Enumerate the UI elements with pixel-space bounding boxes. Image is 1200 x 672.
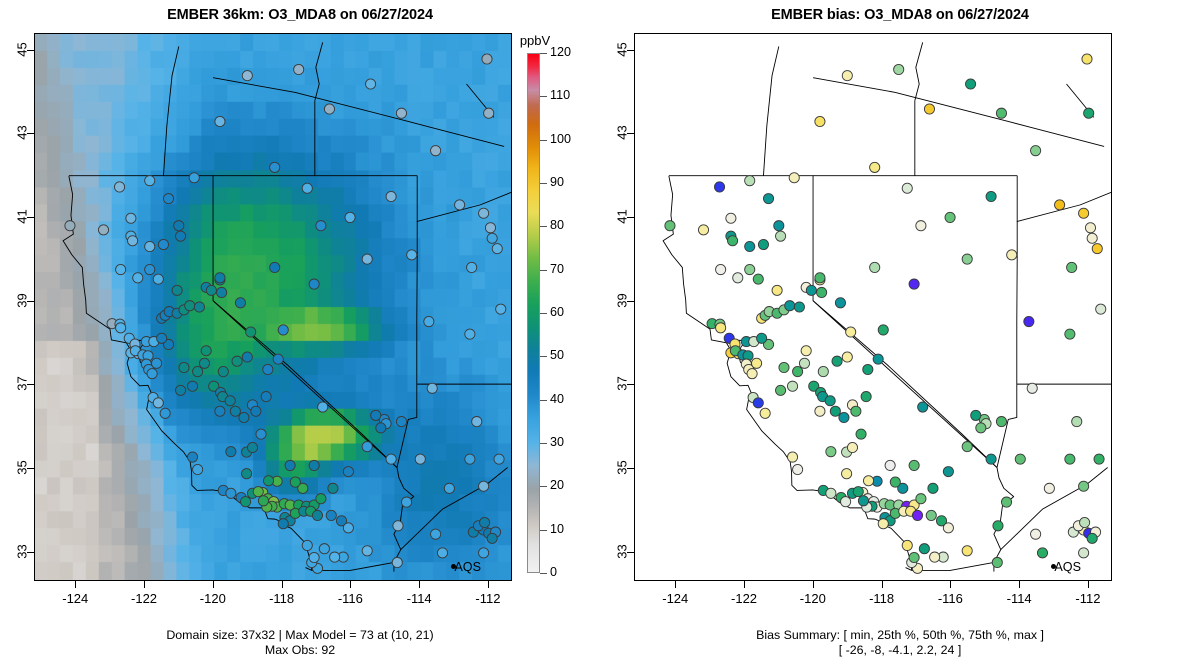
colorbar-tick-label: 40 (550, 392, 564, 406)
page-title: EMBER 36km: O3_MDA8 on 06/27/2024 (0, 7, 600, 23)
model-panel: EMBER 36km: O3_MDA8 on 06/27/2024 AQS -1… (0, 0, 600, 672)
aqs-legend-label-bias: AQS (1054, 560, 1081, 574)
colorbar-tick (540, 573, 547, 574)
y-axis-tick-label: 37 (615, 364, 630, 404)
caption-line-1: Domain size: 37x32 | Max Model = 73 at (… (0, 628, 600, 643)
model-caption: Domain size: 37x32 | Max Model = 73 at (… (0, 628, 600, 658)
x-axis-tick (75, 581, 76, 588)
caption-line-2-bias: [ -26, -8, -4.1, 2.2, 24 ] (600, 643, 1200, 658)
y-axis-tick-label: 41 (15, 197, 30, 237)
colorbar-tick-label: 100 (550, 132, 571, 146)
caption-line-2: Max Obs: 92 (0, 643, 600, 658)
y-axis-tick-label: 33 (15, 531, 30, 571)
x-axis-tick-label: -124 (45, 591, 105, 606)
x-axis-tick (419, 581, 420, 588)
y-axis-tick-label: 43 (15, 113, 30, 153)
colorbar-tick (540, 226, 547, 227)
map-boundaries-layer-bias (635, 34, 1111, 580)
aqs-bias-markers (635, 34, 1111, 580)
aqs-legend-label: AQS (454, 560, 481, 574)
bias-map-plot[interactable]: AQS (634, 33, 1112, 581)
y-axis-tick-label: 41 (615, 197, 630, 237)
page-title-bias: EMBER bias: O3_MDA8 on 06/27/2024 (600, 7, 1200, 23)
x-axis-tick (350, 581, 351, 588)
aqs-legend-dot-icon-bias (1051, 564, 1056, 569)
colorbar-tick (540, 486, 547, 487)
colorbar-tick (540, 530, 547, 531)
colorbar-tick (540, 443, 547, 444)
y-axis-tick-label: 35 (615, 448, 630, 488)
colorbar-tick-label: 70 (550, 262, 564, 276)
x-axis-tick (950, 581, 951, 588)
colorbar-tick-label: 90 (550, 175, 564, 189)
colorbar-tick-label: 30 (550, 435, 564, 449)
colorbar-tick-label: 60 (550, 305, 564, 319)
x-axis-tick (144, 581, 145, 588)
x-axis-tick (488, 581, 489, 588)
x-axis-tick-label: -114 (989, 591, 1049, 606)
model-raster-layer (35, 34, 511, 580)
x-axis-tick (813, 581, 814, 588)
x-axis-tick-label: -120 (783, 591, 843, 606)
x-axis-tick-label: -120 (183, 591, 243, 606)
y-axis-tick-label: 45 (15, 29, 30, 69)
x-axis-tick (882, 581, 883, 588)
x-axis-tick-label: -118 (852, 591, 912, 606)
x-axis-tick-label: -112 (458, 591, 518, 606)
colorbar-tick-label: 20 (550, 478, 564, 492)
colorbar-tick (540, 183, 547, 184)
colorbar-tick (540, 400, 547, 401)
x-axis-tick (675, 581, 676, 588)
y-axis-tick-label: 37 (15, 364, 30, 404)
aqs-legend-dot-icon (451, 564, 456, 569)
x-axis-tick-label: -116 (920, 591, 980, 606)
colorbar-tick (540, 96, 547, 97)
bias-caption: Bias Summary: [ min, 25th %, 50th %, 75t… (600, 628, 1200, 658)
colorbar-tick (540, 270, 547, 271)
x-axis-tick-label: -118 (252, 591, 312, 606)
x-axis-tick-label: -112 (1058, 591, 1118, 606)
colorbar-gradient (527, 53, 540, 573)
colorbar-tick-label: 120 (550, 45, 571, 59)
colorbar-tick (540, 356, 547, 357)
x-axis-tick-label: -122 (714, 591, 774, 606)
x-axis-tick (1088, 581, 1089, 588)
y-axis-tick-label: 43 (615, 113, 630, 153)
colorbar-tick (540, 313, 547, 314)
colorbar-tick-label: 80 (550, 218, 564, 232)
model-map-plot[interactable]: AQS (34, 33, 512, 581)
x-axis-tick (744, 581, 745, 588)
y-axis-tick-label: 33 (615, 531, 630, 571)
colorbar-tick-label: 110 (550, 88, 570, 102)
colorbar-tick-label: 10 (550, 522, 564, 536)
y-axis-tick-label: 39 (615, 280, 630, 320)
colorbar-tick (540, 53, 547, 54)
caption-line-1-bias: Bias Summary: [ min, 25th %, 50th %, 75t… (600, 628, 1200, 643)
x-axis-tick (213, 581, 214, 588)
x-axis-tick (1019, 581, 1020, 588)
colorbar-tick-label: 0 (550, 565, 557, 579)
bias-panel: EMBER bias: O3_MDA8 on 06/27/2024 AQS -1… (600, 0, 1200, 672)
x-axis-tick-label: -122 (114, 591, 174, 606)
x-axis-tick-label: -116 (320, 591, 380, 606)
x-axis-tick (282, 581, 283, 588)
x-axis-tick-label: -114 (389, 591, 449, 606)
colorbar-tick-label: 50 (550, 348, 564, 362)
y-axis-tick-label: 39 (15, 280, 30, 320)
colorbar-tick (540, 140, 547, 141)
y-axis-tick-label: 45 (615, 29, 630, 69)
x-axis-tick-label: -124 (645, 591, 705, 606)
y-axis-tick-label: 35 (15, 448, 30, 488)
